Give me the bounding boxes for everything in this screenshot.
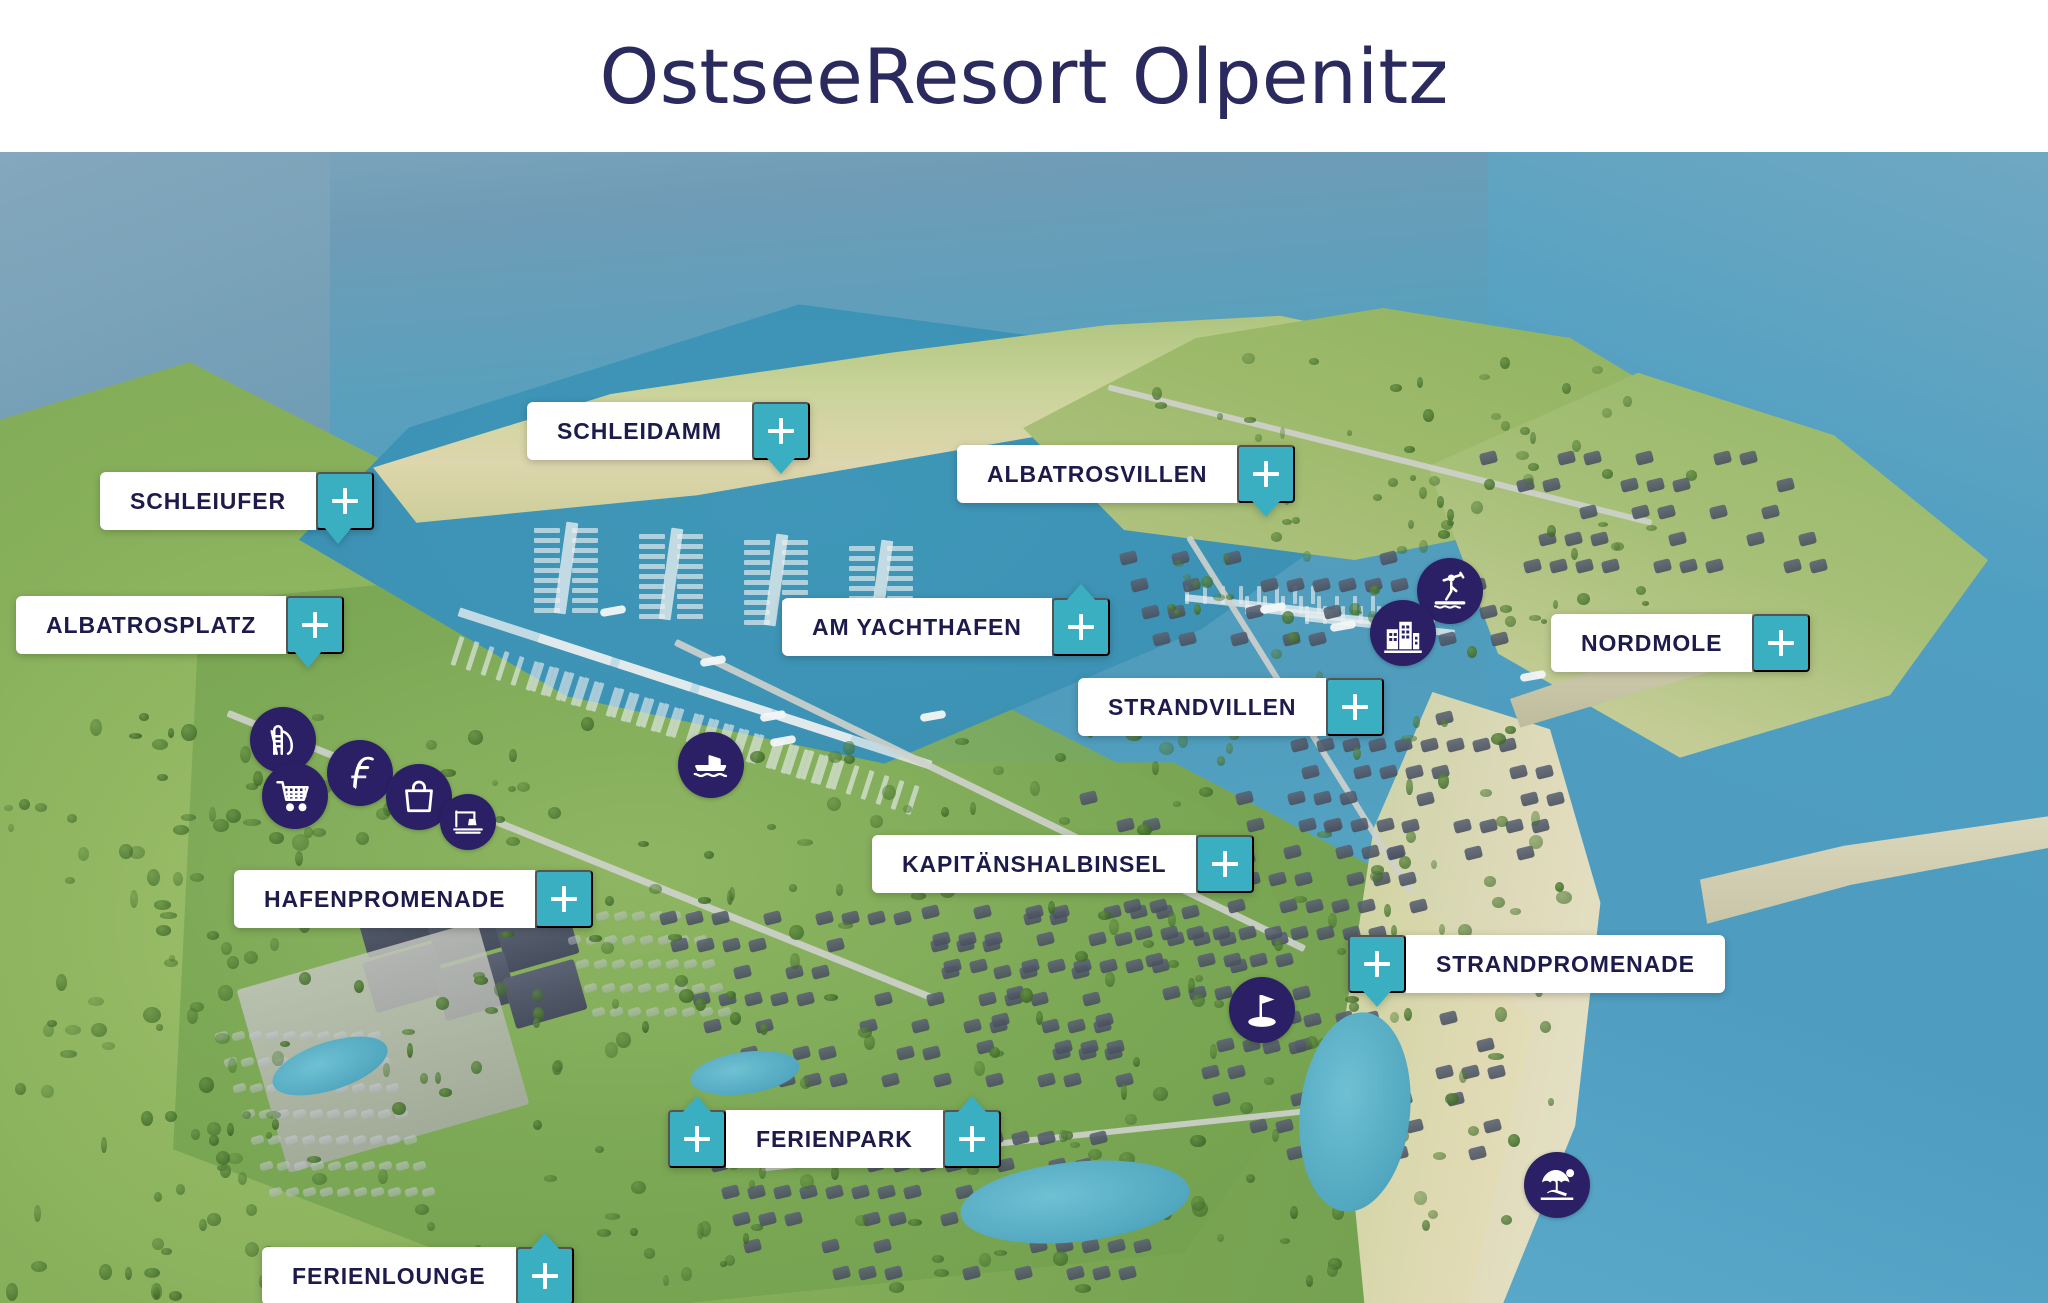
hotspot-ferienpark-label: FERIENPARK <box>726 1110 943 1168</box>
hotspot-ferienlounge-label: FERIENLOUNGE <box>262 1247 516 1303</box>
hotspot-am-yachthafen[interactable]: AM YACHTHAFEN <box>782 598 1110 656</box>
hotspot-pointer-icon <box>294 651 322 668</box>
hotspot-albatrosvillen[interactable]: ALBATROSVILLEN <box>957 445 1295 503</box>
page-header: OstseeResort Olpenitz <box>0 0 2048 152</box>
hotspot-ferienpark-plus-button[interactable] <box>943 1110 1001 1168</box>
hotspot-ferienlounge-plus-button[interactable] <box>516 1247 574 1303</box>
hotspot-albatrosvillen-plus-button[interactable] <box>1237 445 1295 503</box>
hotspot-strandvillen-label: STRANDVILLEN <box>1078 678 1326 736</box>
hotspot-albatrosplatz-plus-button[interactable] <box>286 596 344 654</box>
hotspot-kapitaenshalbinsel-label: KAPITÄNSHALBINSEL <box>872 835 1196 893</box>
resort-map-page: OstseeResort Olpenitz SCHLEIDAMMALBATROS… <box>0 0 2048 1303</box>
hotspot-schleiufer-plus-button[interactable] <box>316 472 374 530</box>
hotspot-albatrosplatz-label: ALBATROSPLATZ <box>16 596 286 654</box>
hotspot-albatrosplatz[interactable]: ALBATROSPLATZ <box>16 596 344 654</box>
hotspot-strandpromenade-label: STRANDPROMENADE <box>1406 935 1725 993</box>
fitness-f-icon[interactable] <box>327 740 393 806</box>
hotspot-schleidamm-plus-button[interactable] <box>752 402 810 460</box>
hotspot-kapitaenshalbinsel-plus-button[interactable] <box>1196 835 1254 893</box>
hotspot-pointer-icon <box>1066 584 1096 601</box>
hotspot-hafenpromenade[interactable]: HAFENPROMENADE <box>234 870 593 928</box>
shopping-cart-icon[interactable] <box>262 763 328 829</box>
hotspot-ferienpark-plus-button[interactable] <box>668 1110 726 1168</box>
hotspot-schleidamm-label: SCHLEIDAMM <box>527 402 752 460</box>
hotspot-pointer-icon <box>324 527 352 544</box>
hotspot-strandpromenade[interactable]: STRANDPROMENADE <box>1348 935 1725 993</box>
hotspot-strandpromenade-plus-button[interactable] <box>1348 935 1406 993</box>
hotspot-schleidamm[interactable]: SCHLEIDAMM <box>527 402 810 460</box>
motorboat-icon[interactable] <box>678 732 744 798</box>
hotspot-hafenpromenade-label: HAFENPROMENADE <box>234 870 535 928</box>
hotspot-ferienpark[interactable]: FERIENPARK <box>668 1110 1001 1168</box>
hotspot-ferienlounge[interactable]: FERIENLOUNGE <box>262 1247 574 1303</box>
hotspot-pointer-icon <box>766 457 796 474</box>
hotspot-nordmole-plus-button[interactable] <box>1752 614 1810 672</box>
hotspot-pointer-icon <box>1251 500 1281 517</box>
hotspot-am-yachthafen-plus-button[interactable] <box>1052 598 1110 656</box>
hotspot-nordmole[interactable]: NORDMOLE <box>1551 614 1810 672</box>
page-title: OstseeResort Olpenitz <box>600 32 1449 121</box>
hotspot-pointer-icon <box>1362 990 1392 1007</box>
hotspot-kapitaenshalbinsel[interactable]: KAPITÄNSHALBINSEL <box>872 835 1254 893</box>
hotspot-am-yachthafen-label: AM YACHTHAFEN <box>782 598 1052 656</box>
boat-crane-icon[interactable] <box>440 794 496 850</box>
hotspot-schleiufer[interactable]: SCHLEIUFER <box>100 472 374 530</box>
golf-flag-icon[interactable] <box>1229 977 1295 1043</box>
hotspot-pointer-icon <box>957 1096 987 1113</box>
beach-umbrella-icon[interactable] <box>1524 1152 1590 1218</box>
resort-building-icon[interactable] <box>1370 600 1436 666</box>
waterslide-icon[interactable] <box>250 707 316 773</box>
hotspot-pointer-icon <box>682 1096 712 1113</box>
hotspot-albatrosvillen-label: ALBATROSVILLEN <box>957 445 1237 503</box>
hotspot-nordmole-label: NORDMOLE <box>1551 614 1752 672</box>
interactive-resort-map[interactable]: SCHLEIDAMMALBATROSVILLENSCHLEIUFERALBATR… <box>0 152 2048 1303</box>
hotspot-strandvillen-plus-button[interactable] <box>1326 678 1384 736</box>
hotspot-hafenpromenade-plus-button[interactable] <box>535 870 593 928</box>
hotspot-pointer-icon <box>530 1233 560 1250</box>
hotspot-strandvillen[interactable]: STRANDVILLEN <box>1078 678 1384 736</box>
hotspot-schleiufer-label: SCHLEIUFER <box>100 472 316 530</box>
